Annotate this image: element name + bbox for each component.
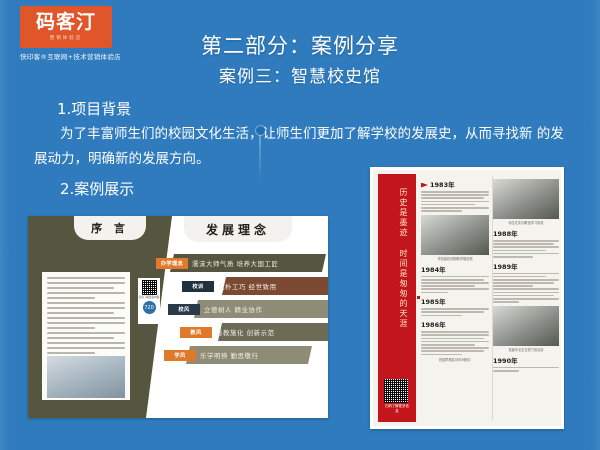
timeline-year: 1986年 [421, 319, 489, 329]
case-photo-timeline-board[interactable]: 历史是墨迹 时间是匆匆的天涯 扫码了解更多信息 1983年 学校建校初期教学楼旧… [370, 167, 564, 429]
philosophy-row-tag: 学风 [164, 350, 196, 361]
philosophy-row-text: 濡沫大师气质 培养大国工匠 [192, 259, 279, 268]
philosophy-row-text: 立德树人 精业协作 [204, 305, 263, 314]
philosophy-row: 学风 乐学明辨 勤思敬行 [164, 346, 328, 364]
board-tab-philosophy: 发展理念 [184, 216, 292, 242]
timeline-paragraph [421, 308, 489, 316]
philosophy-row-list: 办学理念 濡沫大师气质 培养大国工匠 校训 诚朴工巧 经世致用 校风 立德树人 … [156, 254, 328, 369]
timeline-year: 1985年 [421, 296, 489, 306]
board-tab-preface: 序 言 [74, 216, 146, 240]
timeline-column-right: 师生在实训教室学习场景 1988年 1989年 首届毕业生在校门前合影 1990… [493, 176, 559, 420]
philosophy-row: 教风 善教施化 创新示范 [180, 323, 328, 341]
philosophy-row-tag: 办学理念 [156, 258, 188, 269]
arrow-icon [421, 183, 428, 188]
case-photo-preface-board[interactable]: 序 言 发展理念 扫码了解更多内容 720 办学理念 濡沫大师气质 培养大国工匠 [28, 216, 328, 418]
vr-badge: 720 [143, 301, 156, 314]
philosophy-row: 校风 立德树人 精业协作 [168, 300, 328, 318]
preface-photo [47, 356, 125, 398]
timeline-year-label: 1989年 [493, 263, 518, 271]
section-1-body-line-1: 为了丰富师生们的校园文化生活，让师生们更加了解学校的发展史，从而寻找新 [34, 122, 533, 147]
philosophy-row-text: 诚朴工巧 经世致用 [218, 282, 277, 291]
timeline-photo-caption: 校园早期实训车间照片 [421, 357, 489, 362]
philosophy-row-tag: 教风 [180, 327, 212, 338]
qr-code-icon [142, 280, 157, 295]
timeline-paragraph [421, 331, 489, 355]
slide-subtitle: 案例三：智慧校史馆 [0, 62, 600, 87]
banner-vertical-text: 历史是墨迹 时间是匆匆的天涯 [383, 188, 411, 338]
timeline-red-banner: 历史是墨迹 时间是匆匆的天涯 扫码了解更多信息 [378, 174, 416, 422]
timeline-qr-code[interactable]: 扫码了解更多信息 [384, 379, 410, 414]
timeline-photo [493, 179, 559, 219]
qr-caption: 扫码了解更多信息 [384, 404, 410, 414]
timeline-photo-caption: 首届毕业生在校门前合影 [493, 347, 559, 352]
slide-title: 第二部分：案例分享 [0, 30, 600, 60]
section-1-heading: 1.项目背景 [57, 98, 131, 119]
timeline-column-middle: 1983年 学校建校初期教学楼旧照 1984年 1985年 1986年 [421, 176, 493, 420]
section-2-heading: 2.案例展示 [60, 178, 134, 199]
timeline-paragraph [421, 276, 489, 294]
timeline-paragraph [493, 367, 559, 372]
philosophy-row-tag: 校风 [168, 304, 200, 315]
philosophy-row-tag: 校训 [182, 281, 214, 292]
timeline-marker [417, 296, 420, 299]
qr-code-icon [384, 379, 408, 403]
timeline-year: 1989年 [493, 261, 559, 271]
timeline-year-label: 1984年 [421, 266, 446, 274]
timeline-paragraph [493, 240, 559, 258]
timeline-photo-caption: 学校建校初期教学楼旧照 [421, 256, 489, 261]
mouse-cursor [256, 126, 265, 135]
timeline-photo [493, 306, 559, 346]
timeline-year: 1988年 [493, 228, 559, 238]
timeline-year-label: 1985年 [421, 298, 446, 306]
philosophy-row-text: 乐学明辨 勤思敬行 [200, 351, 259, 360]
timeline-photo [421, 215, 489, 255]
timeline-year: 1990年 [493, 355, 559, 365]
timeline-year-label: 1988年 [493, 230, 518, 238]
philosophy-row-text: 善教施化 创新示范 [216, 328, 275, 337]
timeline-year-label: 1986年 [421, 321, 446, 329]
presentation-slide: 码客汀 营销体验店 快印客®互联网+技术营销体验店 第二部分：案例分享 案例三：… [0, 0, 600, 450]
timeline-paragraph [493, 273, 559, 303]
section-1-body: 为了丰富师生们的校园文化生活，让师生们更加了解学校的发展史，从而寻找新 的发展动… [34, 122, 574, 172]
cursor-trail [259, 134, 261, 182]
timeline-year: 1983年 [421, 179, 489, 189]
timeline-year-label: 1990年 [493, 357, 518, 365]
timeline-year-label: 1983年 [430, 181, 455, 189]
philosophy-row: 校训 诚朴工巧 经世致用 [182, 277, 328, 295]
timeline-photo-caption: 师生在实训教室学习场景 [493, 220, 559, 225]
timeline-paragraph [421, 191, 489, 212]
philosophy-row: 办学理念 濡沫大师气质 培养大国工匠 [156, 254, 328, 272]
timeline-year: 1984年 [421, 264, 489, 274]
